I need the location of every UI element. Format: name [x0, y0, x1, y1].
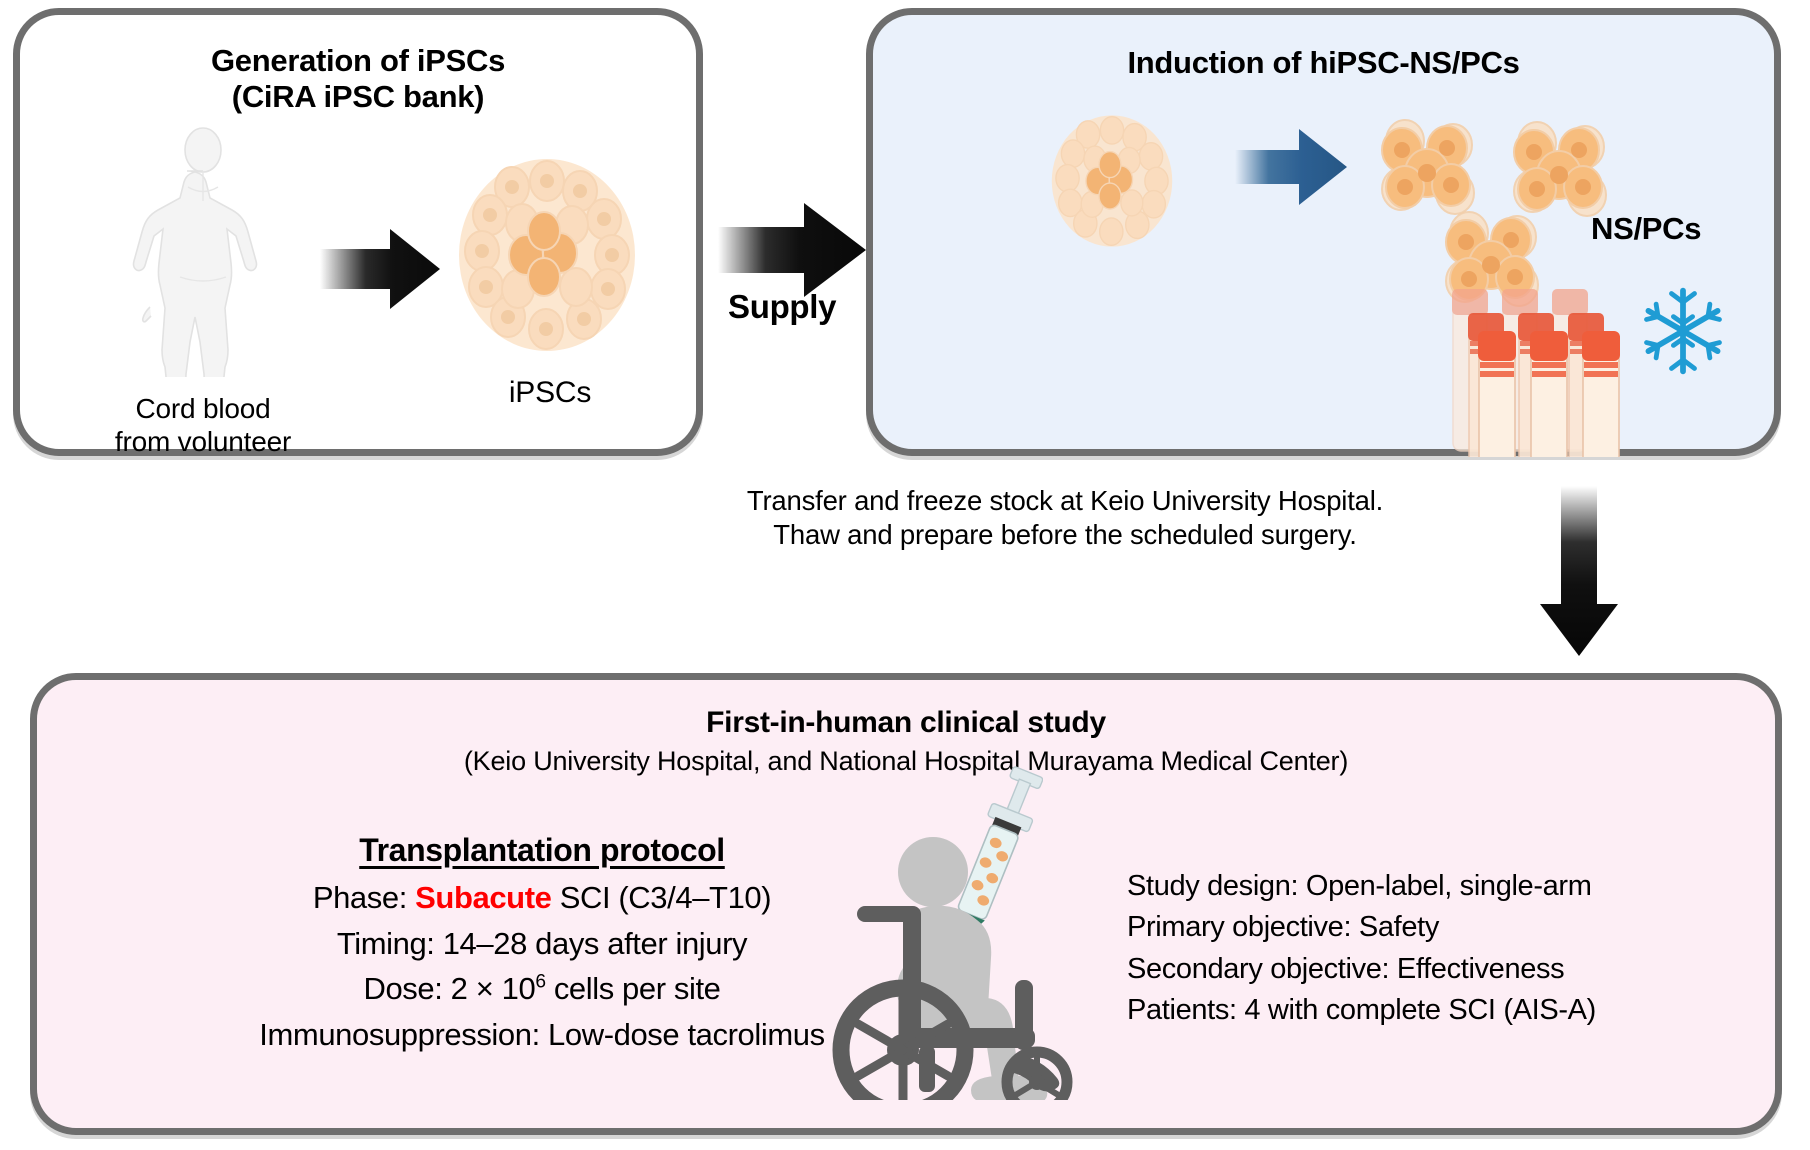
cryovials-icon [1445, 285, 1645, 457]
phase-highlight: Subacute [415, 880, 551, 915]
ipsc-colony-icon [452, 155, 642, 355]
panel-clinical-title: First-in-human clinical study [37, 706, 1775, 741]
study-line: Secondary objective: Effectiveness [1127, 949, 1787, 990]
ipsc-caption: iPSCs [440, 375, 660, 410]
quality-check-block: Quality check General characterization M… [1773, 220, 1810, 437]
study-line: Patients: 4 with complete SCI (AIS-A) [1127, 990, 1787, 1031]
study-line: Primary objective: Safety [1127, 907, 1787, 948]
phase-suffix: SCI (C3/4–T10) [551, 880, 771, 915]
quality-check-item: Functional analysis [1773, 365, 1810, 401]
black-gradient-arrow-right-icon [320, 227, 440, 311]
dose-exponent: 6 [535, 972, 545, 993]
panel-induction-of-hipsc-nspcs: Induction of hiPSC-NS/PCs [866, 8, 1781, 456]
quality-check-item: Marker expression [1773, 292, 1810, 328]
human-body-icon [128, 127, 278, 377]
cord-blood-caption: Cord blood from volunteer [68, 393, 338, 459]
blue-gradient-arrow-right-icon [1235, 127, 1347, 207]
quality-check-item: General characterization [1773, 256, 1810, 292]
panel-first-in-human-clinical-study: First-in-human clinical study (Keio Univ… [30, 673, 1782, 1135]
quality-check-item: Cytogenetic/genomic analysis [1773, 329, 1810, 365]
wheelchair-patient-icon [819, 810, 1109, 1100]
dose-prefix: Dose: 2 × 10 [363, 971, 535, 1006]
panel-generation-of-ipscs: Generation of iPSCs (CiRA iPSC bank) Cor… [13, 8, 703, 456]
nspcs-label: NS/PCs [1591, 211, 1701, 247]
panel-generation-title: Generation of iPSCs (CiRA iPSC bank) [20, 43, 696, 115]
quality-check-item: Safety analysis [1773, 401, 1810, 437]
dose-suffix: cells per site [546, 971, 721, 1006]
snowflake-icon [1635, 283, 1731, 379]
phase-prefix: Phase: [313, 880, 415, 915]
supply-label: Supply [728, 288, 836, 326]
quality-check-heading: Quality check [1773, 220, 1810, 253]
panel-clinical-subtitle: (Keio University Hospital, and National … [37, 746, 1775, 777]
supply-arrow-icon [718, 200, 866, 300]
study-line: Study design: Open-label, single-arm [1127, 866, 1787, 907]
panel-induction-title: Induction of hiPSC-NS/PCs [873, 45, 1774, 81]
black-gradient-arrow-down-icon [1540, 486, 1618, 656]
study-design-block: Study design: Open-label, single-arm Pri… [1127, 866, 1787, 1032]
ipsc-colony-icon [1047, 111, 1177, 251]
transfer-note: Transfer and freeze stock at Keio Univer… [560, 484, 1570, 553]
